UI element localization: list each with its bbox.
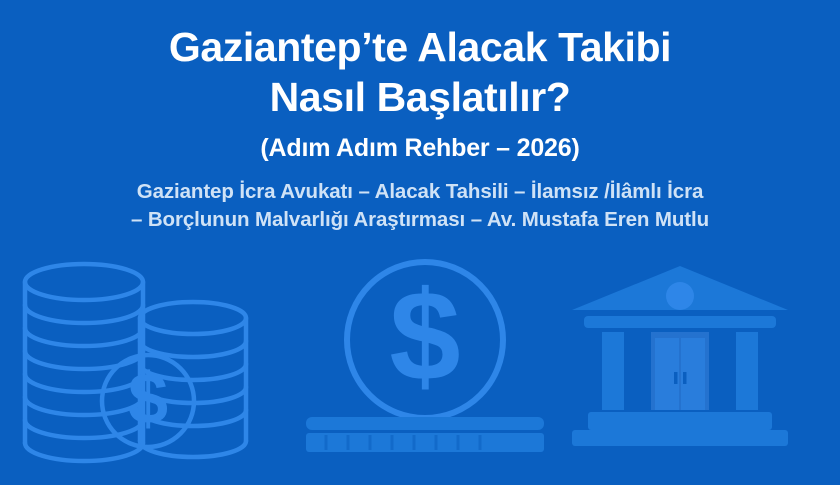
bank-door-handle-right <box>683 372 687 384</box>
coin-stand-rail <box>306 417 544 430</box>
banner: $ $ <box>0 0 840 485</box>
bank-door-handle-left <box>674 372 678 384</box>
dollar-sign-large-icon: $ <box>389 265 460 408</box>
bank-column-right <box>736 332 758 410</box>
page-title-line-1: Gaziantep’te Alacak Takibi <box>0 0 840 72</box>
bank-building-illustration <box>572 266 788 446</box>
bank-step-upper <box>588 412 772 430</box>
description-line-2: – Borçlunun Malvarlığı Araştırması – Av.… <box>0 206 840 234</box>
bank-lintel <box>584 316 776 328</box>
dollar-sign-small-icon: $ <box>128 359 168 439</box>
page-title-line-2: Nasıl Başlatılır? <box>0 72 840 122</box>
description-line-1: Gaziantep İcra Avukatı – Alacak Tahsili … <box>0 166 840 206</box>
svg-text:$: $ <box>128 359 168 439</box>
bank-pediment-circle <box>666 282 694 310</box>
coin-stand-base <box>306 433 544 452</box>
dollar-coin-illustration: $ <box>306 262 544 452</box>
bank-step-lower <box>572 430 788 446</box>
bank-column-left <box>602 332 624 410</box>
page-subtitle: (Adım Adım Rehber – 2026) <box>0 122 840 166</box>
text-block: Gaziantep’te Alacak Takibi Nasıl Başlatı… <box>0 0 840 260</box>
